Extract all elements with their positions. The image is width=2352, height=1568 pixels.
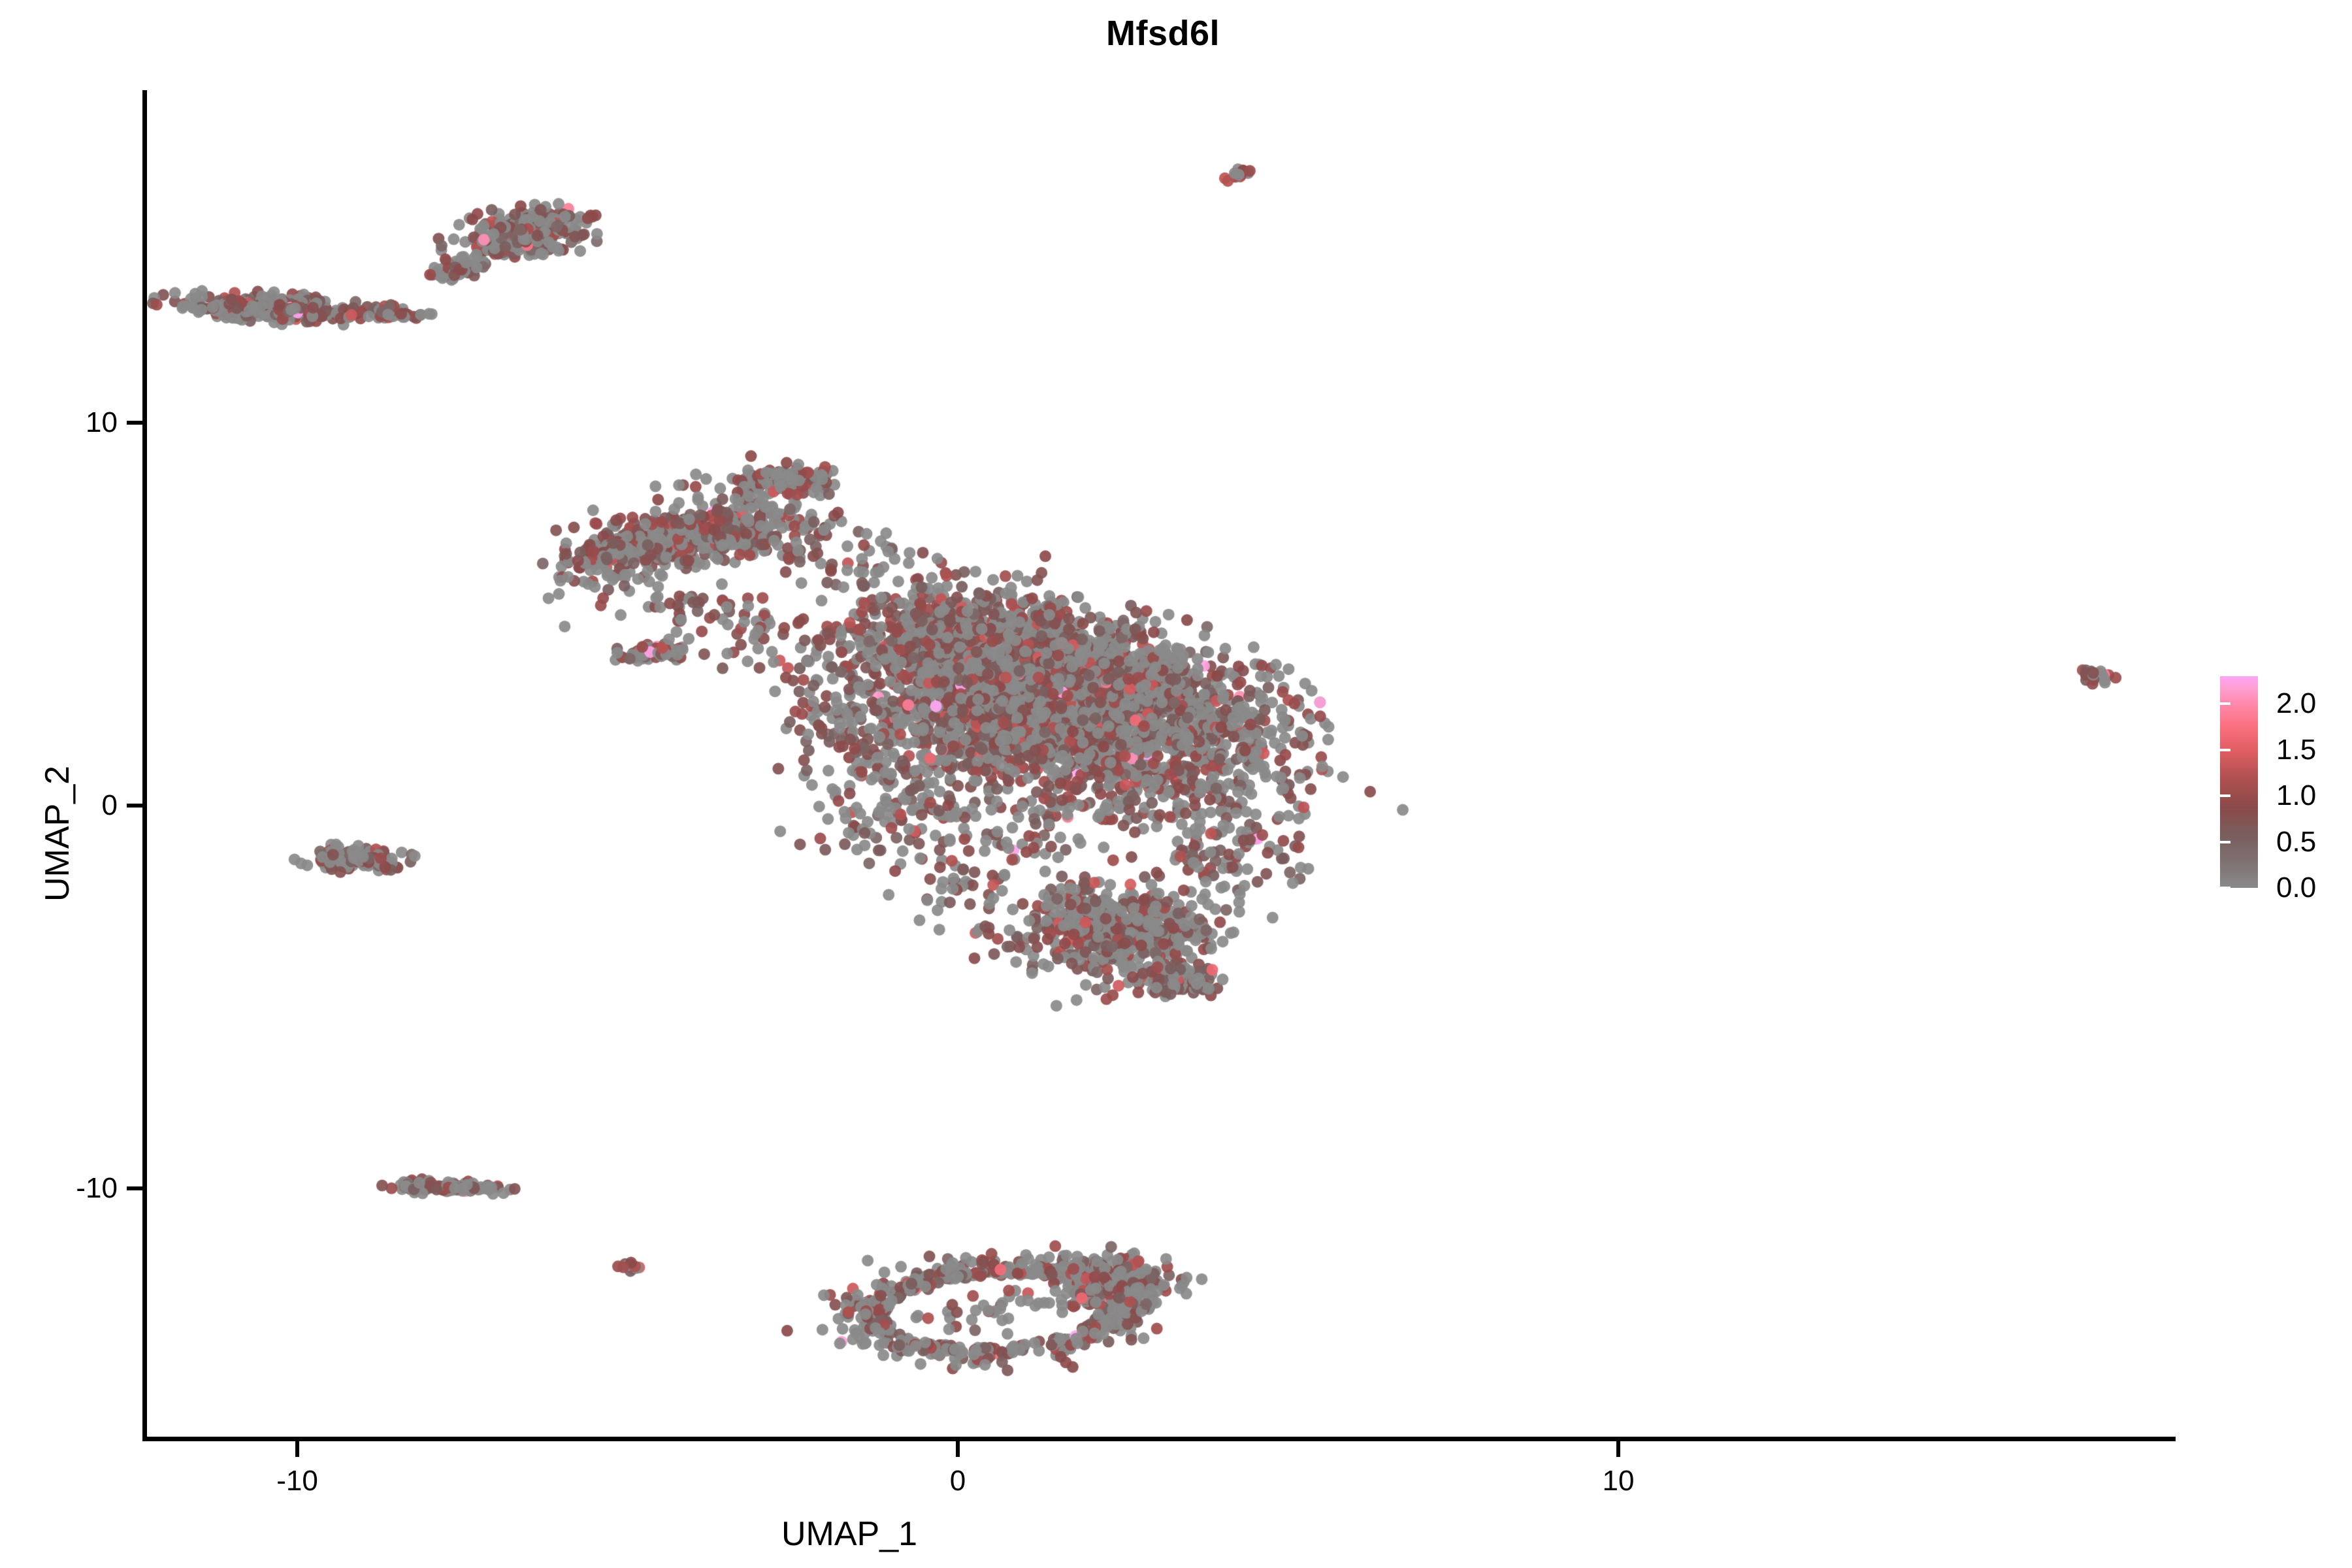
x-tick-mark bbox=[295, 1441, 299, 1457]
colorbar-tick-label: 0.5 bbox=[2276, 826, 2316, 858]
colorbar-tick-mark bbox=[2210, 841, 2220, 843]
colorbar-tick-mark bbox=[2220, 794, 2230, 797]
colorbar-tick-label: 2.0 bbox=[2276, 687, 2316, 720]
x-axis-line bbox=[142, 1437, 2176, 1441]
scatter-points-canvas bbox=[0, 0, 2352, 1568]
colorbar-tick-mark bbox=[2220, 887, 2230, 889]
y-tick-mark bbox=[127, 804, 142, 808]
x-axis-title: UMAP_1 bbox=[0, 1514, 1699, 1554]
y-axis-line bbox=[142, 90, 147, 1441]
y-tick-mark bbox=[127, 1186, 142, 1190]
y-tick-label: -10 bbox=[0, 1172, 118, 1205]
colorbar-tick-label: 0.0 bbox=[2276, 872, 2316, 904]
colorbar-tick-mark bbox=[2210, 702, 2220, 705]
x-tick-mark bbox=[1616, 1441, 1620, 1457]
y-axis-title: UMAP_2 bbox=[38, 766, 77, 902]
x-tick-label: 10 bbox=[1603, 1465, 1635, 1497]
colorbar-gradient bbox=[2220, 676, 2258, 888]
colorbar-tick-label: 1.0 bbox=[2276, 779, 2316, 812]
x-tick-label: -10 bbox=[276, 1465, 318, 1497]
x-tick-mark bbox=[956, 1441, 960, 1457]
y-tick-mark bbox=[127, 421, 142, 425]
colorbar-tick-label: 1.5 bbox=[2276, 734, 2316, 766]
colorbar-tick-mark bbox=[2220, 702, 2230, 705]
x-tick-label: 0 bbox=[950, 1465, 966, 1497]
umap-feature-plot: Mfsd6l -10010-10010 UMAP_1 UMAP_2 0.00.5… bbox=[0, 0, 2352, 1568]
colorbar-tick-mark bbox=[2220, 749, 2230, 751]
colorbar-tick-mark bbox=[2220, 841, 2230, 843]
colorbar-tick-mark bbox=[2210, 749, 2220, 751]
colorbar-tick-mark bbox=[2210, 887, 2220, 889]
scatter-canvas-container bbox=[0, 0, 2352, 1568]
colorbar-tick-mark bbox=[2210, 794, 2220, 797]
y-tick-label: 10 bbox=[0, 406, 118, 439]
